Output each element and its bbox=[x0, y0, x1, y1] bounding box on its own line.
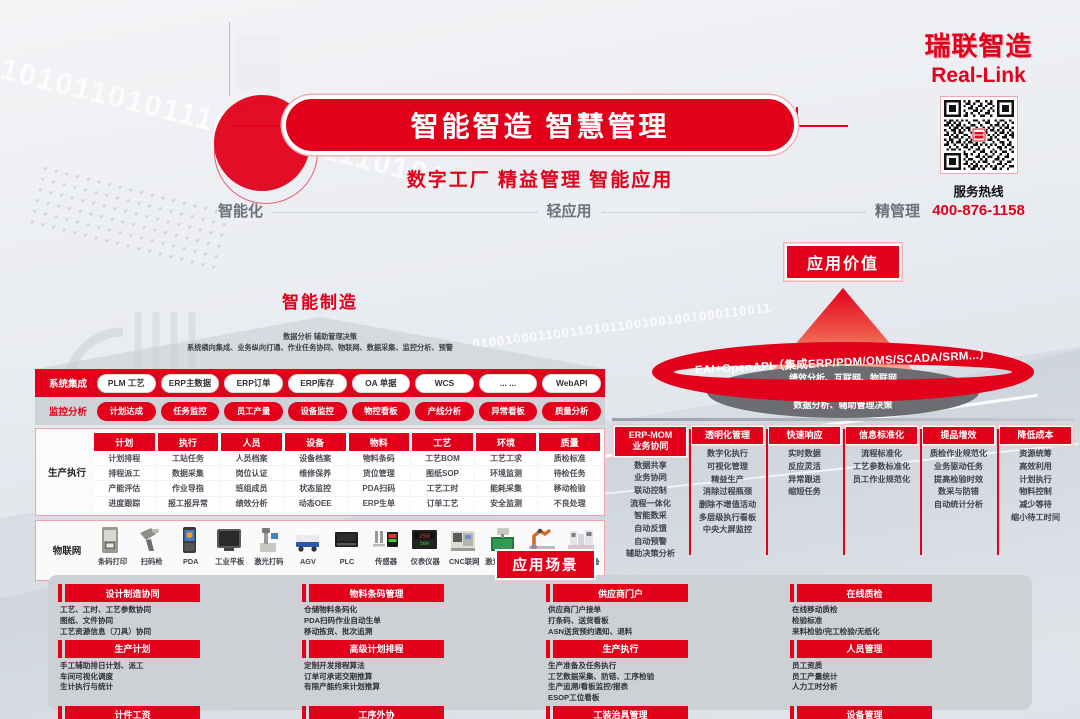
scenario-cell-8: 人员管理员工资质员工产量统计人力工时分析 bbox=[790, 640, 1022, 704]
iot-device-caption: AGV bbox=[289, 557, 326, 566]
scenario-accent-bar bbox=[58, 640, 62, 658]
scenario-header-row: 生产计划 bbox=[58, 640, 290, 658]
monitoring-chip-5[interactable]: 物控看板 bbox=[352, 402, 411, 421]
execution-item[interactable]: 进度跟踪 bbox=[94, 497, 155, 511]
execution-item[interactable]: 环境监测 bbox=[476, 466, 537, 481]
application-scenarios-grid: 设计制造协同工艺、工时、工艺参数协同图纸、文件协同工艺资源信息（刀具）协同物料条… bbox=[48, 575, 1032, 710]
iot-device-caption: 仪表仪器 bbox=[407, 557, 444, 567]
execution-item[interactable]: PDA扫码 bbox=[349, 481, 410, 496]
scenario-item: 生产追溯/看板监控/报表 bbox=[548, 682, 778, 693]
value-column-header-line: 降低成本 bbox=[1000, 430, 1071, 441]
value-item: 业务驱动任务 bbox=[923, 461, 994, 474]
value-column-list: 数字化执行可视化管理精益生产消除过程瓶颈删除不增值活动多层级执行看板中央大屏监控 bbox=[692, 448, 763, 537]
execution-item[interactable]: 产能评估 bbox=[94, 481, 155, 496]
system-integration-chip-8[interactable]: WebAPI bbox=[542, 374, 601, 393]
execution-item[interactable]: 数据采集 bbox=[158, 466, 219, 481]
execution-item[interactable]: 图纸SOP bbox=[412, 466, 473, 481]
value-item: 智能数采 bbox=[615, 510, 686, 523]
scenario-list: 供应商门户接单打条码、送货看板ASN送货预约通知、退料 bbox=[546, 605, 778, 637]
scenario-accent-bar bbox=[790, 706, 794, 719]
smart-manufacturing-title: 智能制造 bbox=[35, 288, 605, 313]
iot-device-item[interactable]: PDA bbox=[172, 524, 209, 577]
iot-device-caption: PLC bbox=[328, 557, 365, 566]
bg-binary-text-top: 11010110101110001001110101 bbox=[0, 48, 687, 255]
iot-device-item[interactable]: 250500仪表仪器 bbox=[407, 524, 444, 577]
value-column-header-line: 快速响应 bbox=[769, 430, 840, 441]
application-value-panel: 应用价值 绩效分析、互联网、物联网任务监控、作业协同、异常处理数据分析、辅助管理… bbox=[612, 246, 1074, 561]
scenario-list: 定制开发排程算法订单可承诺交期推算有限产能约束计划推算 bbox=[302, 661, 534, 693]
value-column-list: 资源统筹高效利用计划执行物料控制减少等待缩小待工时间 bbox=[1000, 448, 1071, 524]
system-integration-row: 系统集成 PLM 工艺ERP主数据ERP订单ERP库存OA 单据WCS... .… bbox=[35, 369, 605, 397]
value-column-header-line: ERP-MOM bbox=[615, 430, 686, 441]
iot-device-item[interactable]: CNC联网 bbox=[446, 524, 483, 577]
scenario-title[interactable]: 供应商门户 bbox=[553, 584, 688, 602]
iot-device-item[interactable]: 传感器 bbox=[368, 524, 405, 577]
monitoring-chip-1[interactable]: 计划达成 bbox=[97, 402, 156, 421]
sensor-icon bbox=[368, 524, 405, 555]
scenario-accent-bar bbox=[790, 584, 794, 602]
brand-name-cn: 瑞联智造 bbox=[891, 26, 1066, 63]
scenario-header-row: 计件工资 bbox=[58, 706, 290, 719]
scenario-title[interactable]: 人员管理 bbox=[797, 640, 932, 658]
value-item: 物料控制 bbox=[1000, 486, 1071, 499]
scenario-list: 在线移动质检检验标准来料检验/完工检验/无纸化 bbox=[790, 605, 1022, 637]
scenario-item: 来料检验/完工检验/无纸化 bbox=[792, 627, 1022, 638]
execution-item[interactable]: 工艺工求 bbox=[476, 451, 537, 466]
scenario-list: 仓储物料条码化PDA扫码作业自动生单移动拣货、批次追溯 bbox=[302, 605, 534, 637]
execution-item[interactable]: 待检任务 bbox=[539, 466, 600, 481]
value-column-header-line: 业务协同 bbox=[615, 441, 686, 452]
scenario-accent-bar bbox=[546, 584, 550, 602]
value-column-2: 透明化管理数字化执行可视化管理精益生产消除过程瓶颈删除不增值活动多层级执行看板中… bbox=[689, 427, 766, 561]
scenario-item: 手工辅助排日计划、派工 bbox=[60, 661, 290, 672]
barcode-scanner-icon bbox=[133, 524, 170, 555]
execution-item[interactable]: 订单工艺 bbox=[412, 497, 473, 511]
scenario-item: 仓储物料条码化 bbox=[304, 605, 534, 616]
execution-item[interactable]: 计划排程 bbox=[94, 451, 155, 466]
value-item: 缩小待工时间 bbox=[1000, 512, 1071, 525]
scenario-item: ASN送货预约通知、退料 bbox=[548, 627, 778, 638]
execution-item[interactable]: 动态OEE bbox=[285, 497, 346, 511]
value-item: 减少等待 bbox=[1000, 499, 1071, 512]
system-integration-label: 系统集成 bbox=[39, 376, 97, 390]
value-column-header[interactable]: 提品增效 bbox=[923, 427, 994, 444]
hotline-number: 400-876-1158 bbox=[891, 202, 1066, 219]
monitoring-analysis-chips: 计划达成任务监控员工产量设备监控物控看板产线分析异常看板质量分析 bbox=[97, 402, 601, 421]
value-item: 数采与防错 bbox=[923, 486, 994, 499]
iot-device-item[interactable]: 激光打码 bbox=[250, 524, 287, 577]
banner-tail-right bbox=[796, 125, 848, 127]
value-item: 异常跟进 bbox=[769, 474, 840, 487]
cnc-machine-icon bbox=[446, 524, 483, 555]
application-scenarios-title: 应用场景 bbox=[497, 551, 594, 578]
scenario-cell-4: 在线质检在线移动质检检验标准来料检验/完工检验/无纸化 bbox=[790, 584, 1022, 638]
execution-column-7: 环境工艺工求环境监测能耗采集安全监测 bbox=[476, 433, 537, 511]
value-column-3: 快速响应实时数据反应灵活异常跟进缩短任务 bbox=[766, 427, 843, 561]
system-integration-chip-1[interactable]: PLM 工艺 bbox=[97, 374, 156, 393]
scenario-header-row: 人员管理 bbox=[790, 640, 1022, 658]
scenario-item: 员工产量统计 bbox=[792, 672, 1022, 683]
system-integration-chip-7[interactable]: ... ... bbox=[479, 374, 538, 393]
scenario-item: PDA扫码作业自动生单 bbox=[304, 616, 534, 627]
execution-item[interactable]: 物料条码 bbox=[349, 451, 410, 466]
production-execution-columns: 计划计划排程排程派工产能评估进度跟踪执行工站任务数据采集作业导指报工报异常人员人… bbox=[94, 433, 600, 511]
scenario-accent-bar bbox=[302, 584, 306, 602]
monitoring-chip-2[interactable]: 任务监控 bbox=[161, 402, 220, 421]
execution-item[interactable]: 能耗采集 bbox=[476, 481, 537, 496]
value-item: 数据共享 bbox=[615, 460, 686, 473]
value-item: 员工作业规范化 bbox=[846, 474, 917, 487]
scenario-title[interactable]: 生产计划 bbox=[65, 640, 200, 658]
system-integration-chip-5[interactable]: OA 单据 bbox=[352, 374, 411, 393]
scenario-list: 工艺、工时、工艺参数协同图纸、文件协同工艺资源信息（刀具）协同 bbox=[58, 605, 290, 637]
execution-item[interactable]: 质检标准 bbox=[539, 451, 600, 466]
scenario-item: 在线移动质检 bbox=[792, 605, 1022, 616]
execution-item[interactable]: 作业导指 bbox=[158, 481, 219, 496]
iot-device-caption: 传感器 bbox=[368, 557, 405, 567]
scenario-cell-7: 生产执行生产准备及任务执行工艺数据采集、防错、工序检验生产追溯/看板监控/报表E… bbox=[546, 640, 778, 704]
value-item: 联动控制 bbox=[615, 485, 686, 498]
value-item: 计划执行 bbox=[1000, 474, 1071, 487]
iot-device-item[interactable]: 扫码枪 bbox=[133, 524, 170, 577]
monitoring-analysis-row: 监控分析 计划达成任务监控员工产量设备监控物控看板产线分析异常看板质量分析 bbox=[35, 397, 605, 425]
value-item: 业务协同 bbox=[615, 472, 686, 485]
scenario-item: 工艺资源信息（刀具）协同 bbox=[60, 627, 290, 638]
execution-column-6: 工艺工艺BOM图纸SOP工艺工时订单工艺 bbox=[412, 433, 473, 511]
pyramid-line-1: 数据分析 辅助管理决策 bbox=[35, 331, 605, 342]
iot-device-caption: 扫码枪 bbox=[133, 557, 170, 567]
iot-device-item[interactable]: AGV bbox=[289, 524, 326, 577]
execution-item[interactable]: 岗位认证 bbox=[221, 466, 282, 481]
value-item: 流程一体化 bbox=[615, 498, 686, 511]
scenario-cell-5: 生产计划手工辅助排日计划、派工车间可视化调度生计执行与统计 bbox=[58, 640, 290, 704]
value-item: 多层级执行看板 bbox=[692, 512, 763, 525]
system-integration-chip-4[interactable]: ERP库存 bbox=[288, 374, 347, 393]
monitoring-chip-4[interactable]: 设备监控 bbox=[288, 402, 347, 421]
execution-column-header[interactable]: 计划 bbox=[94, 433, 155, 451]
execution-column-4: 设备设备档案维修保养状态监控动态OEE bbox=[285, 433, 346, 511]
scenario-header-row: 在线质检 bbox=[790, 584, 1022, 602]
scenario-item: 工艺数据采集、防错、工序检验 bbox=[548, 672, 778, 683]
value-item: 提高检验时效 bbox=[923, 474, 994, 487]
scenario-list: 生产准备及任务执行工艺数据采集、防错、工序检验生产追溯/看板监控/报表ESOP工… bbox=[546, 661, 778, 704]
scenario-header-row: 设计制造协同 bbox=[58, 584, 290, 602]
qr-code-icon[interactable] bbox=[940, 96, 1018, 174]
scenario-item: 工艺、工时、工艺参数协同 bbox=[60, 605, 290, 616]
value-item: 实时数据 bbox=[769, 448, 840, 461]
smart-manufacturing-panel: 智能制造 数据分析 辅助管理决策 系统横向集成、业务纵向打通、作业任务协同、物联… bbox=[35, 288, 605, 581]
qr-code-svg bbox=[944, 100, 1014, 170]
laser-marker-icon bbox=[250, 524, 287, 555]
value-item: 数字化执行 bbox=[692, 448, 763, 461]
value-column-header[interactable]: 信息标准化 bbox=[846, 427, 917, 444]
scenario-title[interactable]: 工序外协 bbox=[309, 706, 444, 719]
iot-device-caption: CNC联网 bbox=[446, 557, 483, 567]
value-separator bbox=[612, 418, 1074, 421]
iot-device-item[interactable]: 条码打印 bbox=[94, 524, 131, 577]
iot-device-caption: 工业平板 bbox=[211, 557, 248, 567]
execution-item[interactable]: 设备档案 bbox=[285, 451, 346, 466]
scenario-header-row: 工序外协 bbox=[302, 706, 534, 719]
brand-name-en: Real-Link bbox=[891, 64, 1066, 88]
execution-item[interactable]: 工艺BOM bbox=[412, 451, 473, 466]
scenario-title[interactable]: 工装治具管理 bbox=[553, 706, 688, 719]
value-item: 精益生产 bbox=[692, 474, 763, 487]
scenario-item: 移动拣货、批次追溯 bbox=[304, 627, 534, 638]
execution-item[interactable]: 绩效分析 bbox=[221, 497, 282, 511]
value-item: 工艺参数标准化 bbox=[846, 461, 917, 474]
scenario-header-row: 供应商门户 bbox=[546, 584, 778, 602]
scenario-accent-bar bbox=[546, 706, 550, 719]
bg-vertical-line bbox=[229, 22, 230, 96]
execution-column-header[interactable]: 执行 bbox=[158, 433, 219, 451]
svg-text:250: 250 bbox=[419, 533, 430, 540]
iot-label: 物联网 bbox=[40, 543, 94, 557]
bg-rectangle bbox=[236, 35, 281, 90]
value-column-list: 实时数据反应灵活异常跟进缩短任务 bbox=[769, 448, 840, 499]
monitoring-analysis-label: 监控分析 bbox=[39, 404, 97, 418]
application-value-title: 应用价值 bbox=[787, 246, 899, 278]
scenario-item: ESOP工位看板 bbox=[548, 693, 778, 704]
scenario-cell-10: 工序外协外协工价外协加工订单/发料/收料不良处理报告/加工费结算 bbox=[302, 706, 534, 719]
scenario-item: 图纸、文件协同 bbox=[60, 616, 290, 627]
value-column-header[interactable]: ERP-MOM业务协同 bbox=[615, 427, 686, 456]
scenario-header-row: 工装治具管理 bbox=[546, 706, 778, 719]
agv-icon bbox=[289, 524, 326, 555]
value-columns: ERP-MOM业务协同数据共享业务协同联动控制流程一体化智能数采自动反馈自动预警… bbox=[612, 427, 1074, 561]
value-item: 反应灵活 bbox=[769, 461, 840, 474]
iot-device-item[interactable]: PLC bbox=[328, 524, 365, 577]
banner-tail-left bbox=[232, 125, 284, 127]
execution-column-header[interactable]: 工艺 bbox=[412, 433, 473, 451]
axis-dash-right bbox=[602, 212, 865, 213]
execution-item[interactable]: 排程派工 bbox=[94, 466, 155, 481]
scenario-list: 员工资质员工产量统计人力工时分析 bbox=[790, 661, 1022, 693]
value-item: 自动反馈 bbox=[615, 523, 686, 536]
svg-text:500: 500 bbox=[420, 541, 429, 547]
scenario-cell-3: 供应商门户供应商门户接单打条码、送货看板ASN送货预约通知、退料 bbox=[546, 584, 778, 638]
scenario-accent-bar bbox=[302, 706, 306, 719]
brand-block: 瑞联智造 Real-Link bbox=[891, 26, 1066, 219]
execution-item[interactable]: 不良处理 bbox=[539, 497, 600, 511]
scenario-cell-2: 物料条码管理仓储物料条码化PDA扫码作业自动生单移动拣货、批次追溯 bbox=[302, 584, 534, 638]
value-item: 可视化管理 bbox=[692, 461, 763, 474]
pyramid-line-2: 系统横向集成、业务纵向打通、作业任务协同、物联网、数据采集、监控分析、预警 bbox=[35, 342, 605, 353]
execution-item[interactable]: 班组成员 bbox=[221, 481, 282, 496]
value-column-list: 质检作业规范化业务驱动任务提高检验时效数采与防错自动统计分析 bbox=[923, 448, 994, 512]
execution-item[interactable]: 维修保养 bbox=[285, 466, 346, 481]
value-column-header-line: 信息标准化 bbox=[846, 430, 917, 441]
value-column-1: ERP-MOM业务协同数据共享业务协同联动控制流程一体化智能数采自动反馈自动预警… bbox=[612, 427, 689, 561]
scenario-accent-bar bbox=[546, 640, 550, 658]
scenario-item: 车间可视化调度 bbox=[60, 672, 290, 683]
scenario-item: 供应商门户接单 bbox=[548, 605, 778, 616]
execution-item[interactable]: 状态监控 bbox=[285, 481, 346, 496]
execution-column-3: 人员人员档案岗位认证班组成员绩效分析 bbox=[221, 433, 282, 511]
scenario-item: 订单可承诺交期推算 bbox=[304, 672, 534, 683]
value-item: 质检作业规范化 bbox=[923, 448, 994, 461]
value-item: 辅助决策分析 bbox=[615, 548, 686, 561]
barcode-printer-icon bbox=[94, 524, 131, 555]
scenario-accent-bar bbox=[58, 706, 62, 719]
scenario-list: 手工辅助排日计划、派工车间可视化调度生计执行与统计 bbox=[58, 661, 290, 693]
value-column-header[interactable]: 透明化管理 bbox=[692, 427, 763, 444]
iot-device-caption: PDA bbox=[172, 557, 209, 566]
industrial-tablet-icon bbox=[211, 524, 248, 555]
system-integration-chip-3[interactable]: ERP订单 bbox=[224, 374, 283, 393]
scenario-accent-bar bbox=[790, 640, 794, 658]
scenario-item: 人力工时分析 bbox=[792, 682, 1022, 693]
scenario-item: 生产准备及任务执行 bbox=[548, 661, 778, 672]
monitoring-chip-3[interactable]: 员工产量 bbox=[224, 402, 283, 421]
system-integration-chips: PLM 工艺ERP主数据ERP订单ERP库存OA 单据WCS... ...Web… bbox=[97, 374, 601, 393]
scenario-title[interactable]: 计件工资 bbox=[65, 706, 200, 719]
scenario-item: 生计执行与统计 bbox=[60, 682, 290, 693]
axis-label-mid: 轻应用 bbox=[547, 200, 592, 221]
execution-column-header[interactable]: 设备 bbox=[285, 433, 346, 451]
value-column-list: 数据共享业务协同联动控制流程一体化智能数采自动反馈自动预警辅助决策分析 bbox=[615, 460, 686, 562]
axis-row: 智能化 轻应用 精管理 bbox=[218, 199, 920, 221]
value-column-header-line: 透明化管理 bbox=[692, 430, 763, 441]
system-integration-chip-2[interactable]: ERP主数据 bbox=[161, 374, 220, 393]
scenario-item: 员工资质 bbox=[792, 661, 1022, 672]
execution-column-header[interactable]: 人员 bbox=[221, 433, 282, 451]
scenario-cell-11: 工装治具管理载具管理RFID/条码化使用履历、寿命预警 bbox=[546, 706, 778, 719]
scenario-header-row: 高级计划排程 bbox=[302, 640, 534, 658]
iot-device-caption: 激光打码 bbox=[250, 557, 287, 567]
execution-column-header[interactable]: 环境 bbox=[476, 433, 537, 451]
hotline-label: 服务热线 bbox=[891, 181, 1066, 200]
execution-item[interactable]: 报工报异常 bbox=[158, 497, 219, 511]
scenario-title[interactable]: 设备管理 bbox=[797, 706, 932, 719]
production-execution-box: 生产执行 计划计划排程排程派工产能评估进度跟踪执行工站任务数据采集作业导指报工报… bbox=[35, 428, 605, 516]
monitoring-chip-7[interactable]: 异常看板 bbox=[479, 402, 538, 421]
scenario-cell-6: 高级计划排程定制开发排程算法订单可承诺交期推算有限产能约束计划推算 bbox=[302, 640, 534, 704]
execution-column-1: 计划计划排程排程派工产能评估进度跟踪 bbox=[94, 433, 155, 511]
execution-item[interactable]: 安全监测 bbox=[476, 497, 537, 511]
scenario-header-row: 物料条码管理 bbox=[302, 584, 534, 602]
value-column-header[interactable]: 快速响应 bbox=[769, 427, 840, 444]
value-item: 缩短任务 bbox=[769, 486, 840, 499]
scenario-title[interactable]: 设计制造协同 bbox=[65, 584, 200, 602]
iot-device-caption: 条码打印 bbox=[94, 557, 131, 567]
value-column-list: 流程标准化工艺参数标准化员工作业规范化 bbox=[846, 448, 917, 486]
scenario-item: 打条码、送货看板 bbox=[548, 616, 778, 627]
value-item: 高效利用 bbox=[1000, 461, 1071, 474]
execution-item[interactable]: ERP生单 bbox=[349, 497, 410, 511]
scenario-title[interactable]: 生产执行 bbox=[553, 640, 688, 658]
execution-column-5: 物料物料条码货位管理PDA扫码ERP生单 bbox=[349, 433, 410, 511]
execution-column-header[interactable]: 物料 bbox=[349, 433, 410, 451]
system-integration-chip-6[interactable]: WCS bbox=[415, 374, 474, 393]
scenario-item: 定制开发排程算法 bbox=[304, 661, 534, 672]
value-column-header[interactable]: 降低成本 bbox=[1000, 427, 1071, 444]
scenario-title[interactable]: 在线质检 bbox=[797, 584, 932, 602]
value-column-6: 降低成本资源统筹高效利用计划执行物料控制减少等待缩小待工时间 bbox=[997, 427, 1074, 561]
pyramid-cap: 数据分析 辅助管理决策 系统横向集成、业务纵向打通、作业任务协同、物联网、数据采… bbox=[35, 317, 605, 369]
execution-column-2: 执行工站任务数据采集作业导指报工报异常 bbox=[158, 433, 219, 511]
scenario-accent-bar bbox=[58, 584, 62, 602]
scenario-cell-1: 设计制造协同工艺、工时、工艺参数协同图纸、文件协同工艺资源信息（刀具）协同 bbox=[58, 584, 290, 638]
page-title: 智能智造 智慧管理 bbox=[286, 99, 794, 151]
scenario-header-row: 设备管理 bbox=[790, 706, 1022, 719]
execution-item[interactable]: 人员档案 bbox=[221, 451, 282, 466]
production-execution-label: 生产执行 bbox=[40, 433, 94, 511]
pda-icon bbox=[172, 524, 209, 555]
execution-item[interactable]: 工艺工时 bbox=[412, 481, 473, 496]
execution-item[interactable]: 货位管理 bbox=[349, 466, 410, 481]
scenario-title[interactable]: 高级计划排程 bbox=[309, 640, 444, 658]
axis-label-left: 智能化 bbox=[218, 200, 263, 221]
monitoring-chip-6[interactable]: 产线分析 bbox=[415, 402, 474, 421]
plc-icon bbox=[328, 524, 365, 555]
value-item: 删除不增值活动 bbox=[692, 499, 763, 512]
scenario-title[interactable]: 物料条码管理 bbox=[309, 584, 444, 602]
value-item: 中央大屏监控 bbox=[692, 524, 763, 537]
monitoring-chip-8[interactable]: 质量分析 bbox=[542, 402, 601, 421]
value-funnel: 绩效分析、互联网、物联网任务监控、作业协同、异常处理数据分析、辅助管理决策 EA… bbox=[612, 282, 1074, 412]
execution-column-header[interactable]: 质量 bbox=[539, 433, 600, 451]
execution-column-8: 质量质检标准待检任务移动检验不良处理 bbox=[539, 433, 600, 511]
execution-item[interactable]: 工站任务 bbox=[158, 451, 219, 466]
scenario-header-row: 生产执行 bbox=[546, 640, 778, 658]
execution-item[interactable]: 移动检验 bbox=[539, 481, 600, 496]
value-item: 自动统计分析 bbox=[923, 499, 994, 512]
iot-device-item[interactable]: 工业平板 bbox=[211, 524, 248, 577]
scenario-item: 检验标准 bbox=[792, 616, 1022, 627]
value-column-5: 提品增效质检作业规范化业务驱动任务提高检验时效数采与防错自动统计分析 bbox=[920, 427, 997, 561]
value-item: 消除过程瓶颈 bbox=[692, 486, 763, 499]
scenario-cell-12: 设备管理设备台账报警/点检/维修/保养设备看板 bbox=[790, 706, 1022, 719]
scenario-item: 有限产能约束计划推算 bbox=[304, 682, 534, 693]
value-item: 自动预警 bbox=[615, 536, 686, 549]
pyramid-text: 数据分析 辅助管理决策 系统横向集成、业务纵向打通、作业任务协同、物联网、数据采… bbox=[35, 331, 605, 353]
value-column-4: 信息标准化流程标准化工艺参数标准化员工作业规范化 bbox=[843, 427, 920, 561]
instrument-icon: 250500 bbox=[407, 524, 444, 555]
value-column-header-line: 提品增效 bbox=[923, 430, 994, 441]
value-item: 流程标准化 bbox=[846, 448, 917, 461]
value-item: 资源统筹 bbox=[1000, 448, 1071, 461]
axis-dash-left bbox=[273, 212, 536, 213]
scenario-cell-9: 计件工资工价定义个人计件、班组计件计件工资核算、汇总 bbox=[58, 706, 290, 719]
scenario-accent-bar bbox=[302, 640, 306, 658]
